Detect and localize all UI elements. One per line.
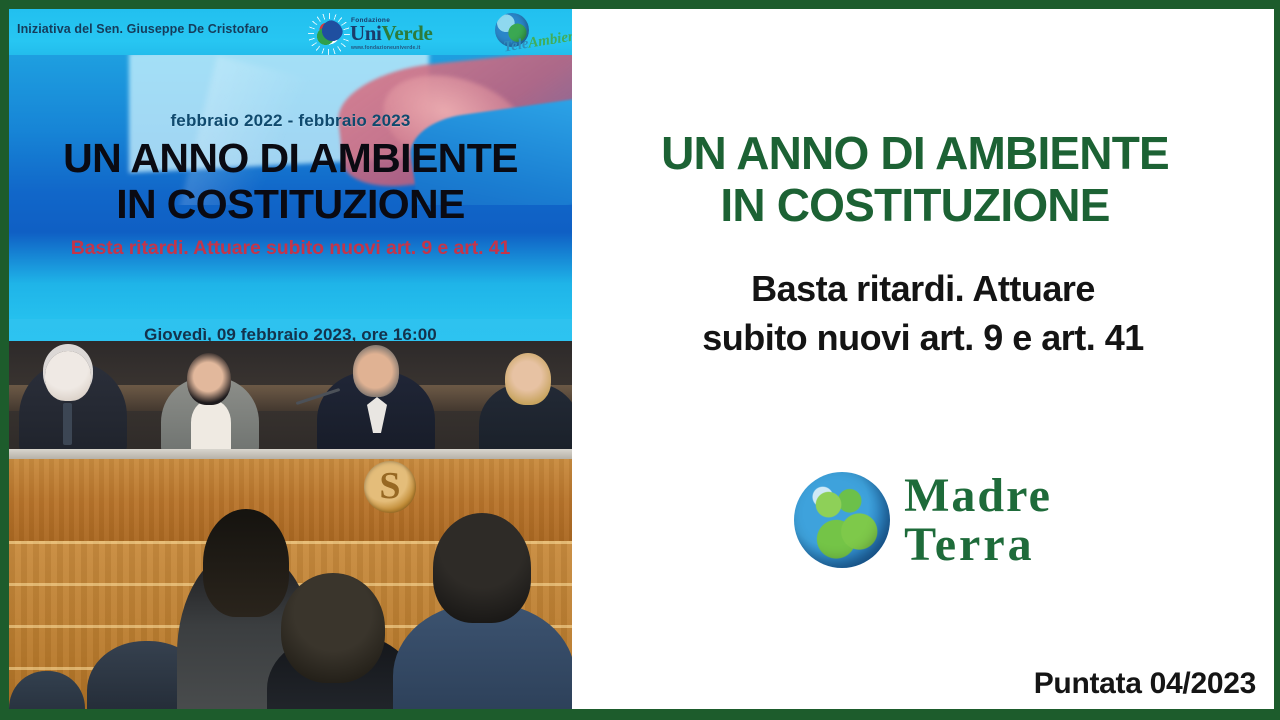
madre-terra-line1: Madre bbox=[904, 469, 1052, 522]
univerde-name-part2: Verde bbox=[381, 21, 432, 45]
poster-header-strip: Iniziativa del Sen. Giuseppe De Cristofa… bbox=[9, 9, 572, 55]
panelist-2-head bbox=[187, 353, 231, 405]
poster-title-line1: UN ANNO DI AMBIENTE bbox=[9, 135, 572, 181]
program-title-line2: IN COSTITUZIONE bbox=[572, 179, 1258, 231]
poster-artwork: febbraio 2022 - febbraio 2023 UN ANNO DI… bbox=[9, 55, 572, 341]
poster-title-line2: IN COSTITUZIONE bbox=[9, 181, 572, 227]
madre-terra-logo: Madre Terra bbox=[572, 471, 1274, 569]
poster-subtitle: Basta ritardi. Attuare subito nuovi art.… bbox=[9, 237, 572, 260]
univerde-name-part1: Uni bbox=[350, 21, 381, 45]
globe-icon bbox=[794, 472, 890, 568]
teleambiente-name-part1: Tele bbox=[502, 36, 529, 55]
senate-seal-icon bbox=[364, 461, 416, 513]
program-title-line1: UN ANNO DI AMBIENTE bbox=[572, 127, 1258, 179]
frame-border-right bbox=[1274, 0, 1280, 720]
poster-title: UN ANNO DI AMBIENTE IN COSTITUZIONE bbox=[9, 135, 572, 227]
frame-border-bottom bbox=[0, 709, 1280, 720]
teleambiente-name-part2: Ambiente bbox=[527, 26, 572, 51]
program-title: UN ANNO DI AMBIENTE IN COSTITUZIONE bbox=[572, 127, 1258, 231]
video-frame: Iniziativa del Sen. Giuseppe De Cristofa… bbox=[0, 0, 1280, 720]
univerde-name: UniVerde bbox=[350, 23, 432, 44]
episode-label: Puntata 04/2023 bbox=[1034, 667, 1256, 701]
teleambiente-logo: TeleAmbiente bbox=[487, 11, 572, 55]
event-photo-panel: Iniziativa del Sen. Giuseppe De Cristofa… bbox=[9, 9, 572, 711]
univerde-logo: Fondazione UniVerde www.fondazioneuniver… bbox=[309, 12, 449, 54]
poster-event-details: Giovedì, 09 febbraio 2023, ore 16:00 Sal… bbox=[9, 319, 572, 341]
audience-member-2-head bbox=[203, 509, 289, 617]
panelist-4-head bbox=[505, 353, 551, 405]
frame-border-top bbox=[0, 0, 1280, 9]
panelist-2-blouse bbox=[191, 401, 231, 455]
panelist-1-tie bbox=[63, 403, 72, 445]
program-subtitle-line2: subito nuovi art. 9 e art. 41 bbox=[592, 313, 1254, 362]
program-subtitle-line1: Basta ritardi. Attuare bbox=[592, 264, 1254, 313]
program-subtitle: Basta ritardi. Attuare subito nuovi art.… bbox=[592, 264, 1254, 362]
panelist-3-head bbox=[353, 345, 399, 397]
desk-edge bbox=[9, 449, 572, 459]
univerde-url: www.fondazioneuniverde.it bbox=[351, 45, 421, 51]
initiative-credit: Iniziativa del Sen. Giuseppe De Cristofa… bbox=[17, 22, 268, 36]
panelist-1-head bbox=[45, 351, 91, 401]
audience-member-4-head bbox=[433, 513, 531, 623]
frame-border-left bbox=[0, 0, 9, 720]
title-card-panel: UN ANNO DI AMBIENTE IN COSTITUZIONE Bast… bbox=[572, 9, 1274, 709]
conference-photograph bbox=[9, 341, 572, 711]
poster-date-range: febbraio 2022 - febbraio 2023 bbox=[9, 111, 572, 131]
audience-member-3-head bbox=[281, 573, 385, 683]
madre-terra-wordmark: Madre Terra bbox=[904, 471, 1052, 569]
poster-event-datetime: Giovedì, 09 febbraio 2023, ore 16:00 bbox=[9, 325, 572, 341]
univerde-sun-icon bbox=[315, 20, 343, 48]
madre-terra-line2: Terra bbox=[904, 520, 1052, 569]
